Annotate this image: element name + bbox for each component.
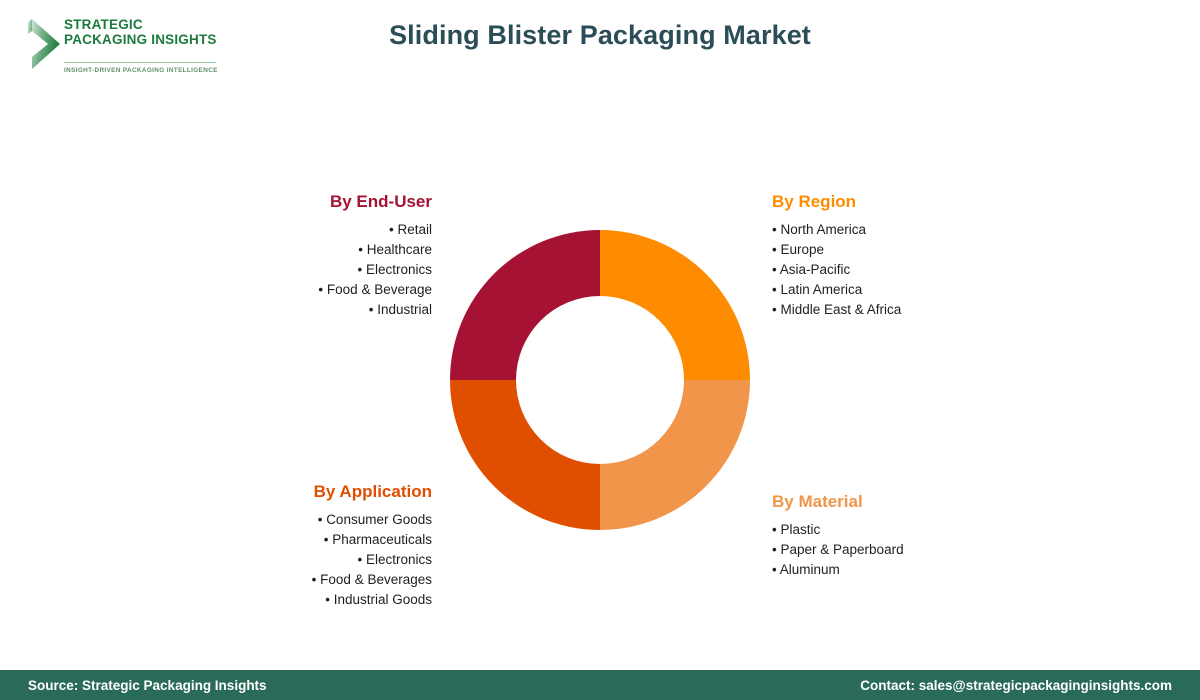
segment-list-end-user: • Retail • Healthcare • Electronics • Fo… xyxy=(180,220,432,320)
bullet-icon: • xyxy=(389,222,394,237)
bullet-icon: • xyxy=(312,572,317,587)
list-item-label: Industrial Goods xyxy=(334,592,432,607)
bullet-icon: • xyxy=(358,242,363,257)
list-item-label: Electronics xyxy=(366,262,432,277)
bullet-icon: • xyxy=(318,512,323,527)
segment-heading-region: By Region xyxy=(772,192,1072,212)
list-item-label: Europe xyxy=(781,242,825,257)
segment-list-region: • North America • Europe • Asia-Pacific … xyxy=(772,220,1072,320)
segment-block-region: By Region • North America • Europe • Asi… xyxy=(772,192,1072,320)
bullet-icon: • xyxy=(325,592,330,607)
list-item: • Food & Beverage xyxy=(180,280,432,300)
bullet-icon: • xyxy=(324,532,329,547)
footer-contact: Contact: sales@strategicpackaginginsight… xyxy=(860,678,1172,693)
list-item: • Healthcare xyxy=(180,240,432,260)
list-item-label: Aluminum xyxy=(780,562,840,577)
list-item: • Aluminum xyxy=(772,560,1072,580)
list-item: • Electronics xyxy=(180,260,432,280)
list-item-label: Food & Beverage xyxy=(327,282,432,297)
list-item: • Industrial xyxy=(180,300,432,320)
list-item: • Electronics xyxy=(160,550,432,570)
segment-heading-material: By Material xyxy=(772,492,1072,512)
bullet-icon: • xyxy=(772,282,777,297)
list-item: • Latin America xyxy=(772,280,1072,300)
list-item-label: Healthcare xyxy=(367,242,432,257)
list-item-label: Food & Beverages xyxy=(320,572,432,587)
logo-divider xyxy=(64,62,216,63)
bullet-icon: • xyxy=(772,242,777,257)
list-item: • Industrial Goods xyxy=(160,590,432,610)
list-item-label: Industrial xyxy=(377,302,432,317)
segment-list-application: • Consumer Goods • Pharmaceuticals • Ele… xyxy=(160,510,432,610)
bullet-icon: • xyxy=(772,542,777,557)
bullet-icon: • xyxy=(772,222,777,237)
list-item-label: Asia-Pacific xyxy=(780,262,851,277)
list-item-label: Plastic xyxy=(781,522,821,537)
list-item: • Consumer Goods xyxy=(160,510,432,530)
segment-heading-end-user: By End-User xyxy=(180,192,432,212)
list-item-label: Paper & Paperboard xyxy=(781,542,904,557)
donut-hole xyxy=(516,296,684,464)
bullet-icon: • xyxy=(772,562,777,577)
segment-block-end-user: By End-User • Retail • Healthcare • Elec… xyxy=(180,192,432,320)
footer-source: Source: Strategic Packaging Insights xyxy=(28,678,267,693)
list-item-label: Middle East & Africa xyxy=(781,302,902,317)
list-item: • Plastic xyxy=(772,520,1072,540)
bullet-icon: • xyxy=(772,302,777,317)
bullet-icon: • xyxy=(357,552,362,567)
segment-block-material: By Material • Plastic • Paper & Paperboa… xyxy=(772,492,1072,580)
bullet-icon: • xyxy=(772,522,777,537)
list-item: • Retail xyxy=(180,220,432,240)
list-item-label: Consumer Goods xyxy=(326,512,432,527)
footer-bar: Source: Strategic Packaging Insights Con… xyxy=(0,670,1200,700)
list-item-label: Electronics xyxy=(366,552,432,567)
bullet-icon: • xyxy=(318,282,323,297)
list-item-label: Retail xyxy=(397,222,432,237)
list-item: • North America xyxy=(772,220,1072,240)
list-item: • Middle East & Africa xyxy=(772,300,1072,320)
list-item-label: Latin America xyxy=(781,282,863,297)
list-item: • Paper & Paperboard xyxy=(772,540,1072,560)
segment-list-material: • Plastic • Paper & Paperboard • Aluminu… xyxy=(772,520,1072,580)
bullet-icon: • xyxy=(369,302,374,317)
logo-tagline: INSIGHT-DRIVEN PACKAGING INTELLIGENCE xyxy=(64,67,218,74)
segment-block-application: By Application • Consumer Goods • Pharma… xyxy=(160,482,432,610)
list-item: • Asia-Pacific xyxy=(772,260,1072,280)
list-item-label: Pharmaceuticals xyxy=(332,532,432,547)
bullet-icon: • xyxy=(772,262,777,277)
page-title: Sliding Blister Packaging Market xyxy=(0,20,1200,51)
list-item: • Pharmaceuticals xyxy=(160,530,432,550)
segment-heading-application: By Application xyxy=(160,482,432,502)
list-item: • Europe xyxy=(772,240,1072,260)
list-item-label: North America xyxy=(781,222,867,237)
bullet-icon: • xyxy=(357,262,362,277)
donut-chart xyxy=(450,230,750,530)
list-item: • Food & Beverages xyxy=(160,570,432,590)
donut-chart-svg xyxy=(450,230,750,530)
